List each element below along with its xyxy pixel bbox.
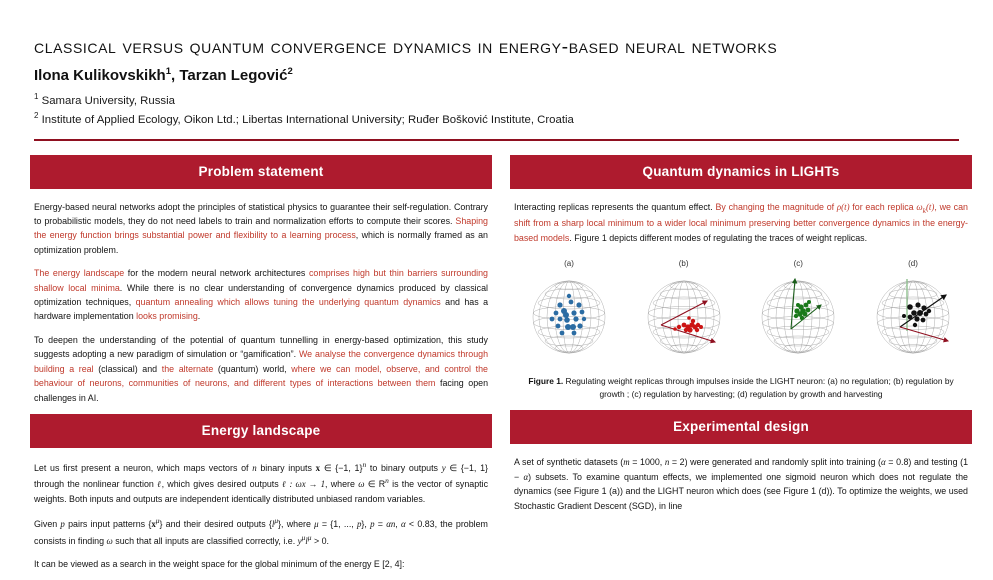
text-run: = 2) were generated and randomly split i… xyxy=(669,457,881,467)
sphere-plot-c xyxy=(745,269,851,364)
text-run: }, xyxy=(361,519,370,529)
author-name-2: Tarzan Legović xyxy=(179,67,287,84)
section-banner-experimental-design: Experimental design xyxy=(510,410,972,444)
text-run: such that all inputs are classified corr… xyxy=(113,536,298,546)
figure-1-panels: (a) xyxy=(516,259,966,369)
experimental-design-body: A set of synthetic datasets (m = 1000, n… xyxy=(514,455,968,513)
figure-caption-text: Regulating weight replicas through impul… xyxy=(563,376,953,399)
sphere-plot-a xyxy=(516,269,622,364)
text-run: Interacting replicas represents the quan… xyxy=(514,202,715,212)
poster-columns: Problem statement Energy-based neural ne… xyxy=(22,155,971,580)
figure-panel-c: (c) xyxy=(745,259,851,369)
poster-page: Classical versus quantum convergence dyn… xyxy=(0,0,993,558)
figure-panel-d: (d) xyxy=(860,259,966,369)
text-run: . Figure 1 depicts different modes of re… xyxy=(569,233,867,243)
figure-panel-a: (a) xyxy=(516,259,622,369)
problem-statement-body: Energy-based neural networks adopt the p… xyxy=(34,200,488,405)
text-run: ∈ {−1, 1} xyxy=(320,463,362,473)
paragraph: To deepen the understanding of the poten… xyxy=(34,333,488,405)
paragraph: Energy-based neural networks adopt the p… xyxy=(34,200,488,258)
panel-label-a: (a) xyxy=(516,259,622,268)
math-symbol: αn xyxy=(386,519,395,529)
sphere-plot-b xyxy=(631,269,737,364)
highlighted-text: By changing the magnitude of xyxy=(715,202,836,212)
highlighted-text: the alternate xyxy=(162,364,214,374)
text-run: = {1, ..., xyxy=(319,519,357,529)
text-run: Energy-based neural networks adopt the p… xyxy=(34,202,488,226)
affiliation-text-2: Institute of Applied Ecology, Oikon Ltd.… xyxy=(38,113,573,125)
panel-label-d: (d) xyxy=(860,259,966,268)
text-run: . xyxy=(198,311,200,321)
paragraph: A set of synthetic datasets (m = 1000, n… xyxy=(514,455,968,513)
right-column: Quantum dynamics in LIGHTs Interacting r… xyxy=(510,155,972,580)
left-column: Problem statement Energy-based neural ne… xyxy=(30,155,492,580)
paragraph-clipped: It can be viewed as a search in the weig… xyxy=(34,557,488,571)
section-banner-energy-landscape: Energy landscape xyxy=(30,414,492,448)
text-run: }, where xyxy=(278,519,314,529)
author-list: Ilona Kulikovskikh1, Tarzan Legović2 xyxy=(34,66,959,84)
text-run: to binary outputs xyxy=(366,463,442,473)
affiliations: 1 Samara University, Russia 2 Institute … xyxy=(34,91,959,129)
page-title: Classical versus quantum convergence dyn… xyxy=(34,34,794,62)
text-run: ∈ R xyxy=(364,479,385,489)
section-banner-quantum-dynamics: Quantum dynamics in LIGHTs xyxy=(510,155,972,189)
text-run: Let us first present a neuron, which map… xyxy=(34,463,252,473)
text-run: , where xyxy=(325,479,358,489)
affiliation-text-1: Samara University, Russia xyxy=(38,94,175,106)
paragraph: Let us first present a neuron, which map… xyxy=(34,459,488,506)
highlighted-text: looks promising xyxy=(136,311,198,321)
header-divider xyxy=(34,139,959,141)
paragraph: Interacting replicas represents the quan… xyxy=(514,200,968,246)
affiliation-line-2: 2 Institute of Applied Ecology, Oikon Lt… xyxy=(34,110,959,129)
affiliation-line-1: 1 Samara University, Russia xyxy=(34,91,959,110)
panel-label-c: (c) xyxy=(745,259,851,268)
text-run: (quantum) world, xyxy=(213,364,291,374)
quantum-dynamics-body: Interacting replicas represents the quan… xyxy=(514,200,968,246)
sphere-plot-d xyxy=(860,269,966,364)
text-run: > 0. xyxy=(311,536,329,546)
figure-caption-label: Figure 1. xyxy=(528,376,563,386)
math-symbol: ρ(t) xyxy=(837,202,850,212)
paragraph: The energy landscape for the modern neur… xyxy=(34,266,488,324)
text-run: (classical) and xyxy=(94,364,162,374)
text-run: for the modern neural network architectu… xyxy=(124,268,309,278)
text-run: = 1000, xyxy=(630,457,665,467)
figure-1-caption: Figure 1. Regulating weight replicas thr… xyxy=(518,375,964,400)
text-run: = xyxy=(375,519,387,529)
poster-header: Classical versus quantum convergence dyn… xyxy=(22,0,971,141)
text-run: A set of synthetic datasets ( xyxy=(514,457,623,467)
data-dots-c xyxy=(794,300,811,320)
text-run: } and their desired outputs { xyxy=(159,519,271,529)
text-run: pairs input patterns { xyxy=(65,519,151,529)
highlighted-text: quantum annealing which allows tuning th… xyxy=(136,297,441,307)
text-run: Given xyxy=(34,519,60,529)
paragraph: Given p pairs input patterns {xμ} and th… xyxy=(34,515,488,548)
highlighted-text: for each replica xyxy=(850,202,917,212)
energy-landscape-body: Let us first present a neuron, which map… xyxy=(34,459,488,571)
author-affil-marker-2: 2 xyxy=(287,66,292,77)
highlighted-text: The energy landscape xyxy=(34,268,124,278)
panel-label-b: (b) xyxy=(631,259,737,268)
text-run: , which gives desired outputs xyxy=(162,479,282,489)
math-symbol: ℓ : ωx → 1 xyxy=(282,479,325,489)
author-name-1: Ilona Kulikovskikh xyxy=(34,67,166,84)
text-run: ) subsets. To examine quantum effects, w… xyxy=(514,472,968,511)
text-run: binary inputs xyxy=(257,463,316,473)
figure-panel-b: (b) xyxy=(631,259,737,369)
section-banner-problem-statement: Problem statement xyxy=(30,155,492,189)
